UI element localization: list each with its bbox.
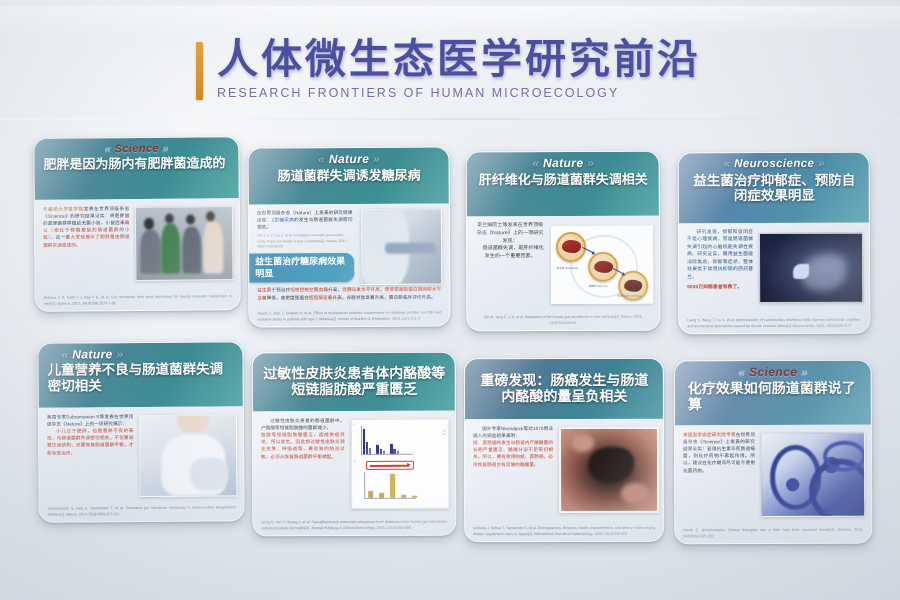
panel-journal-name: Neuroscience <box>734 158 814 170</box>
liver-diagram: 正常肝 normal liver 脂肪肝 fatty liver 肝硬化 liv… <box>551 226 653 304</box>
guillemet-left: « <box>532 156 539 170</box>
panel-headline: 肝纤维化与肠道菌群失调相关 <box>476 172 651 188</box>
poster-board: « Science » 肥胖是因为肠内有肥胖菌造成的 华盛顿大学医学院发表在世界… <box>0 0 900 600</box>
panel-headline: 重磅发现：肠癌发生与肠道内酪酸的量呈负相关 <box>474 372 655 405</box>
panel-citation: Song H, Yoo Y, Hwang J, et al. Faecaliba… <box>261 520 447 531</box>
panel-citation: Qin N, Yang F, Li A, et al. Alterations … <box>475 315 651 326</box>
panel-body-text: 华盛顿大学医学院发表在世界顶级杂志《Science》的研究结果证实：将肥胖鼠的粪… <box>43 205 130 248</box>
panel-journal-name: Nature <box>72 347 113 361</box>
guillemet-right: » <box>818 158 825 170</box>
panel-body-text: 李兰娟院士等发表在世界顶级杂志《Nature》上的一项研究发现： 肠道菌群失调，… <box>475 222 546 261</box>
panel-obesity-gut-bacteria[interactable]: « Science » 肥胖是因为肠内有肥胖菌造成的 华盛顿大学医学院发表在世界… <box>33 136 241 312</box>
endoscopy-photo <box>559 427 659 513</box>
panel-journal-name: Nature <box>543 156 583 170</box>
panel-chemotherapy-gut-flora[interactable]: « Science » 化疗效果如何肠道菌群说了算 美国国家癌症研究院专家在世界… <box>674 360 873 545</box>
panel-atopic-dermatitis[interactable]: 过敏性皮肤炎患者体内酪酸等短链脂肪酸严重匮乏 过敏性皮肤炎患者的肠道菌群中，产酪… <box>252 352 457 537</box>
guillemet-left: « <box>318 152 325 166</box>
crowd-photo <box>135 206 233 281</box>
panel-child-malnutrition[interactable]: « Nature » 儿童营养不良与肠道菌群失调密切相关 美国专家Subrama… <box>37 341 244 522</box>
panel-callout: 益生菌治疗糖尿病效果明显 <box>249 253 354 283</box>
panel-colon-cancer-butyrate[interactable]: 重磅发现：肠癌发生与肠道内酪酸的量呈负相关 国外专家Nkondjock等对107… <box>464 358 664 542</box>
panel-citation: Asemi Z, Zare Z, Shakeri H, et al. Effec… <box>257 311 441 323</box>
baby-photo <box>139 414 237 497</box>
panel-probiotics-depression[interactable]: « Neuroscience » 益生菌治疗抑郁症、预防自闭症效果明显 研究发现… <box>678 152 871 335</box>
guillemet-left: « <box>105 143 112 155</box>
bar-charts: A <box>351 419 450 509</box>
panel-journal-name: Science <box>749 365 797 379</box>
panel-citation: Subramanian S, Huq S, Yatsunenko T, et a… <box>48 506 236 518</box>
panel-body-text-2: 益生菌于预治疗组核控制空腹血糖升高，促胰岛素水平升高，使低密度脂蛋白胆固醇水平显… <box>257 286 441 301</box>
panel-journal-name: Nature <box>329 152 369 166</box>
guillemet-right: » <box>373 152 380 166</box>
panel-citation: Ridaura V K, Faith J J, Rey F E, et al. … <box>44 294 232 306</box>
dark-photo <box>759 233 863 303</box>
panel-citation: Liang S, Wang T, Hu X, et al. Administra… <box>687 318 861 329</box>
liver-label-cirrhosis: 肝硬化 liver cirrhosis <box>614 295 644 298</box>
belly-photo <box>361 209 442 285</box>
panel-citation: Ishihara J, Sobue T, Yamamoto S, et al. … <box>473 526 655 537</box>
guillemet-left: « <box>724 158 731 170</box>
guillemet-right: » <box>116 347 123 361</box>
panel-journal-name: Science <box>115 143 159 155</box>
guillemet-right: » <box>587 156 594 170</box>
guillemet-left: « <box>738 365 745 379</box>
panel-liver-fibrosis[interactable]: « Nature » 肝纤维化与肠道菌群失调相关 李兰娟院士等发表在世界顶级杂志… <box>466 151 661 332</box>
panel-body-text: 美国专家Subramanian S等发表在世界顶级杂志《Nature》上的一项研… <box>47 413 134 456</box>
panel-citation: Perrin E. Bioinformatics. Cancer therapi… <box>683 528 863 539</box>
histology-photo <box>761 433 865 517</box>
panel-headline: 儿童营养不良与肠道菌群失调密切相关 <box>48 362 235 395</box>
liver-label-normal: 正常肝 normal liver <box>552 266 582 269</box>
chart-a-label: A <box>354 423 356 426</box>
chart-b-label: B <box>354 460 356 463</box>
panel-body-text: 国外专家Nkondjock等对1070例法国人的调查结果表明：结、直肠癌的发生与… <box>473 425 553 468</box>
panel-body-text: 在世界顶级杂志（Nature）上发表的研究结果证实：2型糖尿病的发生与肠道菌群失… <box>257 209 353 231</box>
chart-a-legend: ctrlpat <box>443 431 446 437</box>
panel-headline: 肠道菌群失调诱发糖尿病 <box>258 168 441 184</box>
panel-body-text: 美国国家癌症研究院专家在世界顶级杂志《Science》上发表的研究结果证实：若用… <box>683 431 755 474</box>
panel-citation-top: Qin J, Li Y, Cai Z, et al. A metagenome-… <box>257 233 353 249</box>
liver-label-fatty: 脂肪肝 fatty liver <box>583 285 613 288</box>
panel-headline: 化疗效果如何肠道菌群说了算 <box>684 380 863 413</box>
panel-diabetes-dysbiosis[interactable]: « Nature » 肠道菌群失调诱发糖尿病 在世界顶级杂志（Nature）上发… <box>248 146 451 327</box>
panel-headline: 益生菌治疗抑郁症、预防自闭症效果明显 <box>688 172 861 204</box>
guillemet-right: » <box>801 365 808 379</box>
panel-body-highlight: 9000万抑郁患者有救了。 <box>687 284 753 292</box>
panel-headline: 过敏性皮肤炎患者体内酪酸等短链脂肪酸严重匮乏 <box>262 364 447 397</box>
panel-body-text: 研究发现，抑郁和自闭症不是心理疾病，而是肠道菌群失调引起的心脑机能失调性疾病。研… <box>687 229 753 281</box>
panel-body-text: 过敏性皮肤炎患者的肠道菌群中，产酪酸等短链脂肪酸的菌群减少，酪酸等短链脂肪酸匮乏… <box>261 417 345 460</box>
panel-headline: 肥胖是因为肠内有肥胖菌造成的 <box>43 155 230 172</box>
guillemet-right: » <box>162 143 169 155</box>
guillemet-left: « <box>61 348 68 362</box>
